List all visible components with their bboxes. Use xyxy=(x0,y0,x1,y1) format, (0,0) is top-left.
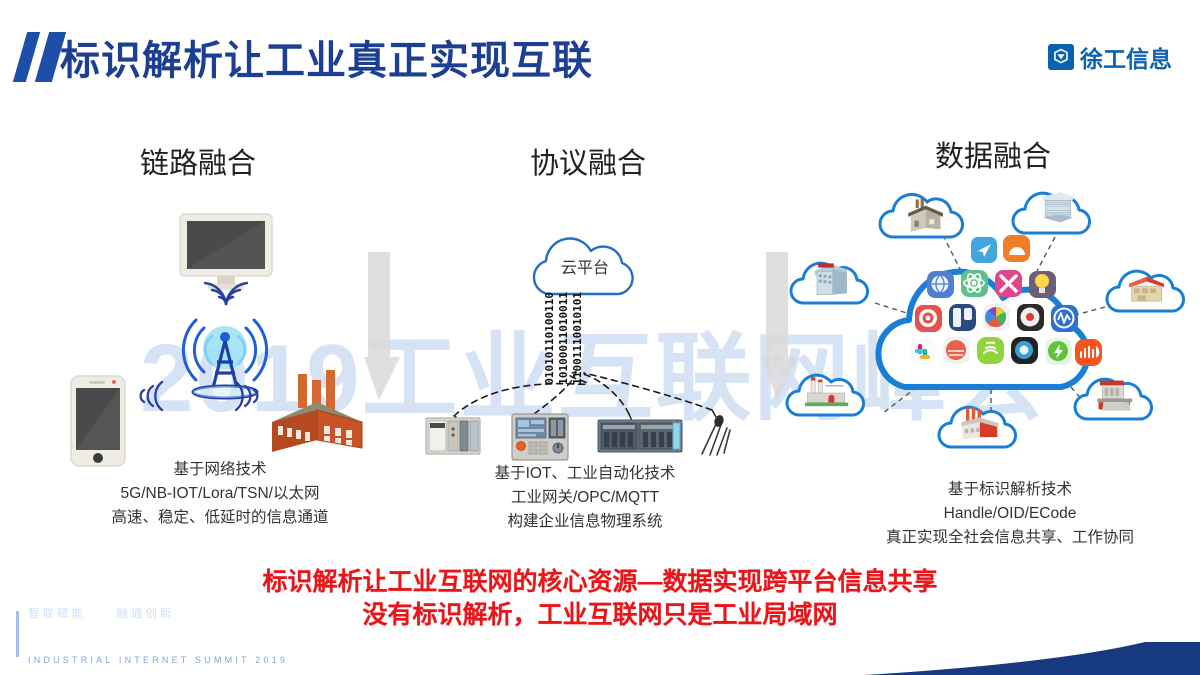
power-plant-cloud xyxy=(787,375,864,415)
page-title: 标识解析让工业真正实现互联 xyxy=(60,28,593,86)
plc-rack-icon xyxy=(426,418,480,454)
cnc-controller-icon xyxy=(512,414,568,460)
cloud-platform-label: 云平台 xyxy=(518,232,652,300)
section-heading-data-fusion: 数据融合 xyxy=(935,133,1051,175)
industrial-device-row xyxy=(424,408,734,464)
binary-column: 10100011010011 xyxy=(558,292,569,385)
caption-line: 工业网关/OPC/MQTT xyxy=(440,486,730,510)
slide-header: 标识解析让工业真正实现互联 徐工信息 xyxy=(0,0,1200,100)
caption-link-fusion: 基于网络技术 5G/NB-IOT/Lora/TSN/以太网 高速、稳定、低延时的… xyxy=(60,458,380,530)
data-fusion-cloud-network xyxy=(775,175,1200,475)
machinery-cloud xyxy=(1075,379,1152,419)
app-cloud-icon xyxy=(878,235,1102,387)
factory-house-cloud xyxy=(880,194,963,237)
caption-line: 5G/NB-IOT/Lora/TSN/以太网 xyxy=(60,482,380,506)
caption-data-fusion: 基于标识解析技术 Handle/OID/ECode 真正实现全社会信息共享、工作… xyxy=(835,478,1185,550)
signal-wave-left-icon xyxy=(128,372,166,425)
caption-line: 真正实现全社会信息共享、工作协同 xyxy=(835,526,1185,550)
banner-line-2: 没有标识解析，工业互联网只是工业局域网 xyxy=(0,599,1200,632)
caption-line: 基于网络技术 xyxy=(60,458,380,482)
section-heading-link-fusion: 链路融合 xyxy=(140,140,256,182)
caption-line: 构建企业信息物理系统 xyxy=(440,510,730,534)
office-building-cloud xyxy=(791,263,868,303)
sensor-probe-icon xyxy=(702,414,730,455)
chimney-plant-cloud xyxy=(939,407,1016,447)
binary-column: 11001110010101 xyxy=(572,292,583,385)
caption-protocol-fusion: 基于IOT、工业自动化技术 工业网关/OPC/MQTT 构建企业信息物理系统 xyxy=(440,462,730,534)
logo-text: 徐工信息 xyxy=(1080,40,1172,74)
binary-data-stream: 01010110100110 10100011010011 1100111001… xyxy=(544,292,583,385)
banner-line-1: 标识解析让工业互联网的核心资源—数据实现跨平台信息共享 xyxy=(0,566,1200,599)
caption-line: 基于标识解析技术 xyxy=(835,478,1185,502)
slide-root: 标识解析让工业真正实现互联 徐工信息 2019工业互联网峰会 链路融合 协议融合… xyxy=(0,0,1200,675)
data-center-cloud xyxy=(1013,192,1090,233)
summit-subtitle: INDUSTRIAL INTERNET SUMMIT 2019 xyxy=(28,655,288,665)
plc-module-icon xyxy=(598,420,682,452)
caption-line: Handle/OID/ECode xyxy=(835,502,1185,526)
factory-icon xyxy=(262,370,372,461)
binary-column: 01010110100110 xyxy=(544,292,555,385)
warehouse-cloud xyxy=(1107,271,1184,311)
caption-line: 高速、稳定、低延时的信息通道 xyxy=(60,506,380,530)
hexagon-triangle-icon xyxy=(1048,44,1074,70)
banner-highlight-text: 标识解析让工业互联网的核心资源—数据实现跨平台信息共享 没有标识解析，工业互联网… xyxy=(0,566,1200,632)
caption-line: 基于IOT、工业自动化技术 xyxy=(440,462,730,486)
brand-logo: 徐工信息 xyxy=(1048,40,1172,74)
section-heading-protocol-fusion: 协议融合 xyxy=(530,140,646,182)
